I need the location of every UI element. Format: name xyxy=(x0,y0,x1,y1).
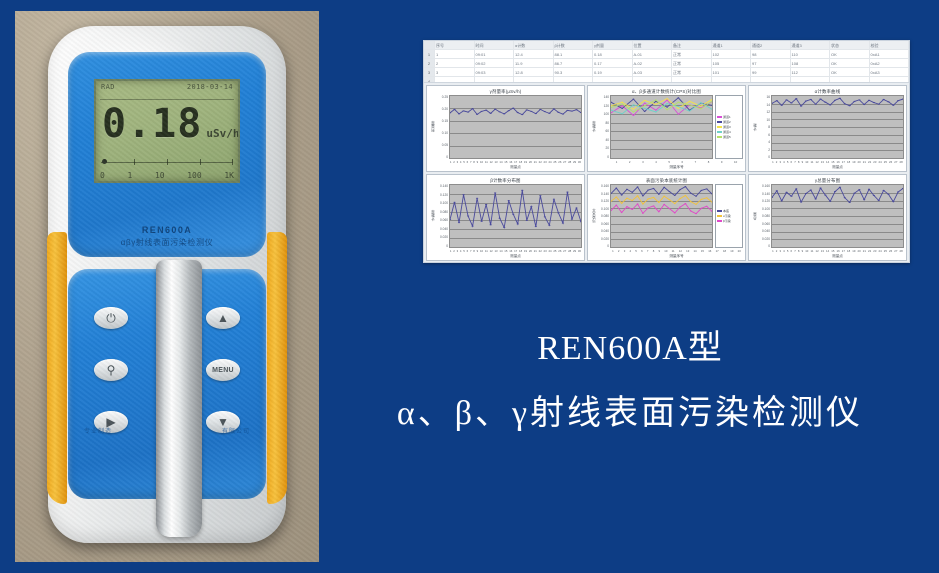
spreadsheet-cell[interactable] xyxy=(554,77,594,83)
chart-plot-area xyxy=(771,95,904,159)
chart-data-point xyxy=(848,105,850,106)
chart-data-point xyxy=(471,108,473,109)
chart-data-point xyxy=(644,100,646,101)
device-model-label: REN600A αβγ射线表面污染检测仪 xyxy=(68,216,266,256)
spreadsheet-row-index xyxy=(424,41,435,49)
chart-legend-swatch xyxy=(717,215,722,217)
chart-y-tick-label: 0 xyxy=(757,244,770,248)
chart-data-point xyxy=(887,194,889,195)
spreadsheet-cell[interactable]: 97 xyxy=(751,59,791,67)
chart-data-point xyxy=(548,225,550,226)
spreadsheet-row: 3309:0312.890.30.19A-03正常10199112OK0xA3 xyxy=(424,68,909,77)
chart-data-point xyxy=(517,223,519,224)
chart-title: α计数率曲线 xyxy=(751,88,904,95)
spreadsheet-cell[interactable]: 101 xyxy=(712,68,752,76)
spreadsheet-row-index: 2 xyxy=(424,59,435,67)
chart-data-point xyxy=(508,110,510,111)
rubber-grip-right xyxy=(267,232,287,504)
chart-data-point xyxy=(663,187,665,188)
chart-card: 表面污染本底统计图污染水平0.1600.1400.1200.1000.0800.… xyxy=(587,174,746,261)
chart-gridline xyxy=(450,158,581,159)
lcd-bargraph-marker xyxy=(102,159,107,164)
chart-data-point xyxy=(615,196,617,197)
spreadsheet-cell[interactable]: 09:03 xyxy=(475,68,515,76)
spreadsheet-cell[interactable]: β计数 xyxy=(554,41,594,49)
chart-legend-swatch xyxy=(717,126,722,128)
lcd-bargraph xyxy=(101,158,233,165)
chart-data-point xyxy=(517,112,519,113)
chart-y-tick-label: 20 xyxy=(596,146,609,150)
chart-data-point xyxy=(512,108,514,109)
chart-y-tick-label: 0.080 xyxy=(435,210,448,214)
spreadsheet-cell[interactable]: 98 xyxy=(751,50,791,58)
spreadsheet-row-index: 1 xyxy=(424,50,435,58)
spreadsheet-cell[interactable]: γ剂量 xyxy=(593,41,633,49)
spreadsheet-cell[interactable] xyxy=(672,77,712,83)
title-block: REN600A型 α、β、γ射线表面污染检测仪 xyxy=(330,320,930,434)
chart-data-point xyxy=(647,189,649,190)
chart-data-point xyxy=(539,109,541,110)
spreadsheet-cell[interactable]: 102 xyxy=(712,50,752,58)
chart-data-point xyxy=(679,207,681,208)
chart-y-ticks: 0.1600.1400.1200.1000.0800.0600.0400.020… xyxy=(596,184,610,248)
spreadsheet-cell[interactable]: 11.9 xyxy=(514,59,554,67)
spreadsheet-cell[interactable]: 86.7 xyxy=(554,59,594,67)
chart-data-point xyxy=(776,190,778,191)
chart-data-point xyxy=(685,203,687,204)
spreadsheet-row: 2209:0211.986.70.17A-02正常10597108OK0xA2 xyxy=(424,59,909,68)
chart-legend-item[interactable]: 通道1 xyxy=(717,115,741,119)
chart-data-point xyxy=(453,109,455,110)
spreadsheet-cell[interactable]: 0xA1 xyxy=(870,50,910,58)
chart-card: β计数率分布图计数率0.1400.1200.1000.0800.0600.040… xyxy=(426,174,585,261)
chart-data-point xyxy=(658,194,660,195)
spreadsheet-cell[interactable]: 校验 xyxy=(870,41,910,49)
chart-data-point xyxy=(700,208,702,209)
chart-y-tick-label: 0.060 xyxy=(596,222,609,226)
spreadsheet-cell[interactable]: OK xyxy=(830,68,870,76)
chart-data-point xyxy=(467,112,469,113)
chart-y-tick-label: 0.140 xyxy=(757,192,770,196)
spreadsheet-cell[interactable]: 0xA3 xyxy=(870,68,910,76)
spreadsheet-cell[interactable]: 序号 xyxy=(435,41,475,49)
lcd-scale-tick-label: 0 xyxy=(100,171,105,180)
spreadsheet-cell[interactable]: 时间 xyxy=(475,41,515,49)
chart-data-point xyxy=(458,222,460,223)
spreadsheet-row-index: 4 xyxy=(424,77,435,83)
chart-data-point xyxy=(776,100,778,101)
chart-data-point xyxy=(642,195,644,196)
spreadsheet-cell[interactable]: 0.19 xyxy=(593,68,633,76)
chart-data-point xyxy=(642,213,644,214)
lcd-bargraph-tick xyxy=(232,159,233,165)
chart-data-point xyxy=(848,202,850,203)
spreadsheet-cell[interactable]: 备注 xyxy=(672,41,712,49)
chart-data-point xyxy=(658,202,660,203)
spreadsheet-cell[interactable]: 位置 xyxy=(633,41,673,49)
chart-data-point xyxy=(878,104,880,105)
spreadsheet-cell[interactable] xyxy=(751,77,791,83)
chart-data-point xyxy=(653,197,655,198)
lcd-status-left: RAD xyxy=(101,83,115,91)
spreadsheet-cell[interactable] xyxy=(830,77,870,83)
spreadsheet-cell[interactable]: 09:02 xyxy=(475,59,515,67)
chart-data-point xyxy=(666,103,668,104)
spreadsheet-cell[interactable]: 88.1 xyxy=(554,50,594,58)
chart-legend-item[interactable]: 通道5 xyxy=(717,135,741,139)
device-footer-text: 专业制造 有限公司 xyxy=(68,426,266,435)
chart-data-point xyxy=(626,189,628,190)
chart-data-point xyxy=(499,218,501,219)
spreadsheet-cell[interactable] xyxy=(791,77,831,83)
chart-gridline xyxy=(611,247,712,248)
spreadsheet-cell[interactable]: 12.8 xyxy=(514,68,554,76)
chart-y-tick-label: 0.10 xyxy=(435,131,448,135)
chart-data-point xyxy=(772,197,773,198)
chart-y-axis-label: 计数 xyxy=(751,95,757,159)
chart-data-point xyxy=(814,198,816,199)
chart-series-line xyxy=(611,204,712,214)
chart-data-point xyxy=(644,105,646,106)
chart-data-point xyxy=(633,109,635,110)
chart-y-axis-label: 污染水平 xyxy=(590,184,596,248)
chart-legend-label: 通道2 xyxy=(723,120,731,124)
chart-data-point xyxy=(785,192,787,193)
chart-data-point xyxy=(873,195,875,196)
lcd-bargraph-tick xyxy=(134,159,135,165)
spreadsheet-cell[interactable]: 0.17 xyxy=(593,59,633,67)
chart-y-ticks: 1614121086420 xyxy=(757,95,771,159)
chart-data-point xyxy=(633,115,635,116)
chart-y-tick-label: 0.20 xyxy=(435,107,448,111)
chart-data-point xyxy=(580,221,581,222)
spreadsheet-cell[interactable]: 110 xyxy=(791,50,831,58)
chart-data-point xyxy=(621,212,623,213)
spreadsheet-cell[interactable] xyxy=(475,77,515,83)
chart-data-point xyxy=(790,102,792,103)
chart-data-point xyxy=(897,100,899,101)
chart-legend-label: 通道5 xyxy=(723,135,731,139)
chart-legend-label: 本底 xyxy=(723,209,729,213)
chart-data-point xyxy=(621,108,623,109)
chart-data-point xyxy=(690,210,692,211)
chart-data-point xyxy=(663,196,665,197)
chart-data-point xyxy=(663,204,665,205)
chart-y-tick-label: 40 xyxy=(596,138,609,142)
chart-gridline xyxy=(772,247,903,248)
chart-data-point xyxy=(631,192,633,193)
chart-title: 表面污染本底统计图 xyxy=(590,177,743,184)
chart-data-point xyxy=(575,109,577,110)
spreadsheet-cell[interactable]: 12.4 xyxy=(514,50,554,58)
spreadsheet-cell[interactable] xyxy=(633,77,673,83)
chart-y-tick-label: 0.140 xyxy=(596,192,609,196)
chart-y-tick-label: 0.080 xyxy=(596,214,609,218)
spreadsheet-cell[interactable]: 3 xyxy=(435,68,475,76)
chart-data-point xyxy=(795,188,797,189)
chart-data-point xyxy=(897,191,899,192)
chart-gridline xyxy=(772,158,903,159)
chart-data-point xyxy=(689,104,691,105)
chart-data-point xyxy=(480,111,482,112)
menu-button[interactable]: MENU xyxy=(206,359,240,381)
chart-data-point xyxy=(467,215,469,216)
chart-data-point xyxy=(814,104,816,105)
chart-series-line xyxy=(611,187,712,197)
chart-plot-area xyxy=(610,184,713,248)
chart-body: 总量0.1600.1400.1200.1000.0800.0600.0400.0… xyxy=(751,184,904,248)
chart-y-tick-label: 0.080 xyxy=(757,214,770,218)
chart-data-point xyxy=(615,205,617,206)
chart-data-point xyxy=(471,226,473,227)
chart-gridline xyxy=(611,158,712,159)
chart-data-point xyxy=(669,191,671,192)
chart-data-point xyxy=(548,113,550,114)
chart-data-point xyxy=(858,99,860,100)
chart-data-point xyxy=(844,103,846,104)
chart-data-point xyxy=(674,203,676,204)
chart-data-point xyxy=(653,188,655,189)
chart-data-point xyxy=(637,203,639,204)
chart-legend-item[interactable]: β污染 xyxy=(717,219,741,223)
spreadsheet-cell[interactable]: 112 xyxy=(791,68,831,76)
spreadsheet-cell[interactable] xyxy=(870,77,910,83)
chart-legend-item[interactable]: 通道3 xyxy=(717,125,741,129)
chart-legend-label: 通道1 xyxy=(723,115,731,119)
chart-series-line xyxy=(611,195,712,204)
spreadsheet-cell[interactable]: 2 xyxy=(435,59,475,67)
spreadsheet-cell[interactable]: OK xyxy=(830,50,870,58)
chart-data-point xyxy=(700,108,702,109)
spreadsheet-cell[interactable]: 99 xyxy=(751,68,791,76)
chart-data-point xyxy=(781,200,783,201)
chart-data-point xyxy=(526,109,528,110)
chart-data-point xyxy=(834,191,836,192)
chart-data-point xyxy=(615,188,617,189)
chart-data-point xyxy=(557,112,559,113)
chart-grid: γ剂量率(μSv/h)剂量率0.250.200.150.100.05012345… xyxy=(424,83,909,263)
chart-data-point xyxy=(526,220,528,221)
chart-data-point xyxy=(685,195,687,196)
chart-y-tick-label: 0.100 xyxy=(757,207,770,211)
chart-data-point xyxy=(566,110,568,111)
chart-body: 计数率0.1400.1200.1000.0800.0600.0400.0200 xyxy=(429,184,582,248)
chart-y-tick-label: 0.020 xyxy=(596,237,609,241)
chart-data-point xyxy=(690,193,692,194)
lcd-reading: 0.18 uSv/h xyxy=(102,102,234,146)
chart-y-ticks: 140120100806040200 xyxy=(596,95,610,159)
chart-legend-label: 通道3 xyxy=(723,125,731,129)
spreadsheet-cell[interactable]: 09:01 xyxy=(475,50,515,58)
device-photograph: RAD 2018-03-14 0.18 uSv/h xyxy=(15,11,319,562)
chart-data-point xyxy=(800,106,802,107)
power-button[interactable]: ⏻ xyxy=(94,307,128,329)
chart-data-point xyxy=(829,104,831,105)
chart-data-point xyxy=(887,101,889,102)
chart-data-point xyxy=(637,186,639,187)
chart-data-point xyxy=(695,196,697,197)
chart-legend-item[interactable]: 本底 xyxy=(717,209,741,213)
chart-data-point xyxy=(621,105,623,106)
chart-legend-swatch xyxy=(717,136,722,138)
chart-data-point xyxy=(485,204,487,205)
chart-data-point xyxy=(571,111,573,112)
chart-data-point xyxy=(781,105,783,106)
chart-y-tick-label: 0.040 xyxy=(596,229,609,233)
chart-data-point xyxy=(508,200,510,201)
chart-data-point xyxy=(839,98,841,99)
spreadsheet-cell[interactable]: 通道3 xyxy=(791,41,831,49)
chart-data-point xyxy=(658,211,660,212)
chart-data-point xyxy=(633,104,635,105)
chart-data-point xyxy=(453,202,455,203)
chart-data-point xyxy=(819,99,821,100)
chart-data-point xyxy=(450,219,451,220)
chart-legend-item[interactable]: 通道4 xyxy=(717,130,741,134)
chart-data-point xyxy=(700,106,702,107)
backlight-button[interactable]: ⚲ xyxy=(94,359,128,381)
spreadsheet-cell[interactable]: OK xyxy=(830,59,870,67)
chart-legend-item[interactable]: 通道2 xyxy=(717,120,741,124)
chart-data-point xyxy=(800,201,802,202)
chart-data-point xyxy=(824,102,826,103)
chart-data-point xyxy=(489,113,491,114)
chart-data-point xyxy=(480,221,482,222)
spreadsheet-cell[interactable]: 0xA2 xyxy=(870,59,910,67)
chart-y-tick-label: 60 xyxy=(596,129,609,133)
chart-data-point xyxy=(633,99,635,100)
lcd-divider xyxy=(100,99,234,100)
spreadsheet-cell[interactable] xyxy=(514,77,554,83)
chart-data-point xyxy=(844,197,846,198)
chart-y-tick-label: 0.120 xyxy=(596,199,609,203)
lcd-scale-tick-label: 10 xyxy=(155,171,165,180)
chart-series-line xyxy=(450,190,581,227)
chart-data-point xyxy=(706,206,708,207)
chart-y-tick-label: 6 xyxy=(757,133,770,137)
spreadsheet-cell[interactable]: 1 xyxy=(435,50,475,58)
chart-y-tick-label: 0 xyxy=(757,155,770,159)
chart-y-tick-label: 14 xyxy=(757,103,770,107)
chart-title: α、β多通道计数统计(CPS)对比图 xyxy=(590,88,743,95)
chart-y-tick-label: 0.020 xyxy=(435,235,448,239)
spreadsheet-cell[interactable]: α计数 xyxy=(514,41,554,49)
chart-data-point xyxy=(503,113,505,114)
spreadsheet-cell[interactable] xyxy=(435,77,475,83)
spreadsheet-cell[interactable]: A-03 xyxy=(633,68,673,76)
spreadsheet-cell[interactable]: 状态 xyxy=(830,41,870,49)
chart-data-point xyxy=(677,106,679,107)
device-body: RAD 2018-03-14 0.18 uSv/h xyxy=(48,26,286,543)
chart-body: 计数率140120100806040200通道1通道2通道3通道4通道5 xyxy=(590,95,743,159)
up-button[interactable]: ▲ xyxy=(206,307,240,329)
chart-legend-swatch xyxy=(717,131,722,133)
chart-data-point xyxy=(819,188,821,189)
spreadsheet-cell[interactable]: 105 xyxy=(712,59,752,67)
chart-data-point xyxy=(633,111,635,112)
chart-data-point xyxy=(689,101,691,102)
chart-x-axis-label: 测量点 xyxy=(449,253,582,259)
chart-card: α计数率曲线计数16141210864201234567891011121314… xyxy=(748,85,907,172)
spreadsheet-cell[interactable]: 0.18 xyxy=(593,50,633,58)
device-model-name: REN600A xyxy=(142,225,192,235)
chart-y-ticks: 0.1400.1200.1000.0800.0600.0400.0200 xyxy=(435,184,449,248)
spreadsheet-cell[interactable]: 108 xyxy=(791,59,831,67)
chart-data-point xyxy=(677,108,679,109)
chart-body: 剂量率0.250.200.150.100.050 xyxy=(429,95,582,159)
spreadsheet-header-row: 序号时间α计数β计数γ剂量位置备注通道1通道2通道3状态校验 xyxy=(424,41,909,50)
chart-y-ticks: 0.1600.1400.1200.1000.0800.0600.0400.020… xyxy=(757,184,771,248)
chart-y-tick-label: 0 xyxy=(435,155,448,159)
chart-data-point xyxy=(695,204,697,205)
lcd-bargraph-tick xyxy=(200,159,201,165)
chart-data-point xyxy=(655,111,657,112)
chart-title: γ总量分布图 xyxy=(751,177,904,184)
chart-data-point xyxy=(485,110,487,111)
spreadsheet-cell[interactable] xyxy=(593,77,633,83)
spreadsheet-cell[interactable]: 正常 xyxy=(672,59,712,67)
chart-legend-label: β污染 xyxy=(723,219,731,223)
chart-data-point xyxy=(494,192,496,193)
chart-data-point xyxy=(863,104,865,105)
chart-data-point xyxy=(621,103,623,104)
chart-data-point xyxy=(499,111,501,112)
lcd-value: 0.18 xyxy=(102,102,202,146)
chart-x-axis-label: 测量序号 xyxy=(610,253,743,259)
chart-y-tick-label: 100 xyxy=(596,112,609,116)
menu-button-label: MENU xyxy=(212,367,234,374)
chart-y-axis-label: 计数率 xyxy=(590,95,596,159)
power-icon: ⏻ xyxy=(106,312,116,324)
chart-data-point xyxy=(685,186,687,187)
chart-y-axis-label: 总量 xyxy=(751,184,757,248)
chart-legend-swatch xyxy=(717,121,722,123)
spreadsheet-cell[interactable]: 正常 xyxy=(672,68,712,76)
chart-y-tick-label: 80 xyxy=(596,121,609,125)
spreadsheet-row: 1109:0112.488.10.18A-01正常10298110OK0xA1 xyxy=(424,50,909,59)
lcd-scale-tick-label: 1 xyxy=(127,171,132,180)
spreadsheet-cell[interactable]: A-02 xyxy=(633,59,673,67)
chart-legend-swatch xyxy=(717,116,722,118)
chart-legend-item[interactable]: α污染 xyxy=(717,214,741,218)
chart-data-point xyxy=(679,198,681,199)
chart-data-point xyxy=(562,114,564,115)
chart-data-point xyxy=(706,188,708,189)
spreadsheet-cell[interactable]: A-01 xyxy=(633,50,673,58)
chart-card: γ剂量率(μSv/h)剂量率0.250.200.150.100.05012345… xyxy=(426,85,585,172)
chart-data-point xyxy=(790,196,792,197)
chart-data-point xyxy=(530,111,532,112)
chart-data-point xyxy=(621,203,623,204)
spreadsheet-cell[interactable] xyxy=(712,77,752,83)
lcd-unit: uSv/h xyxy=(206,127,239,140)
spreadsheet-cell[interactable]: 正常 xyxy=(672,50,712,58)
chart-data-point xyxy=(863,199,865,200)
spreadsheet-cell[interactable]: 90.3 xyxy=(554,68,594,76)
chart-y-tick-label: 0.040 xyxy=(757,229,770,233)
spreadsheet-cell[interactable]: 通道2 xyxy=(751,41,791,49)
spreadsheet-cell[interactable]: 通道1 xyxy=(712,41,752,49)
chart-body: 污染水平0.1600.1400.1200.1000.0800.0600.0400… xyxy=(590,184,743,248)
chart-data-point xyxy=(677,114,679,115)
chart-data-point xyxy=(868,189,870,190)
magnifier-icon: ⚲ xyxy=(107,364,116,376)
chart-y-tick-label: 0.020 xyxy=(757,237,770,241)
chart-data-point xyxy=(644,103,646,104)
chart-data-point xyxy=(653,205,655,206)
chart-legend-swatch xyxy=(717,220,722,222)
chart-data-point xyxy=(669,199,671,200)
